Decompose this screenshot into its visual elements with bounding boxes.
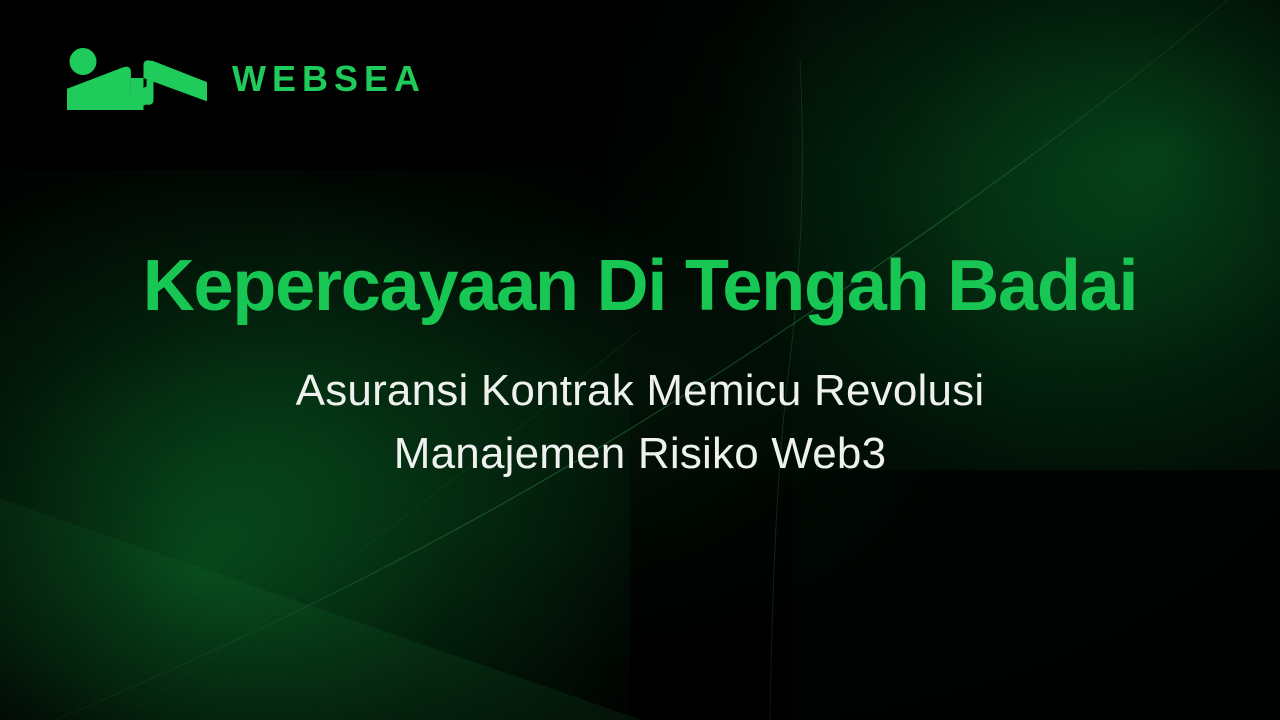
page-title: Kepercayaan Di Tengah Badai: [0, 248, 1280, 324]
subtitle-line-2: Manajemen Risiko Web3: [190, 423, 1090, 485]
brand-logo[interactable]: WEBSEA: [64, 48, 426, 110]
title-slide: WEBSEA Kepercayaan Di Tengah Badai Asura…: [0, 0, 1280, 720]
websea-wave-mark-icon: [64, 48, 210, 110]
brand-wordmark: WEBSEA: [232, 61, 426, 97]
hero-content: Kepercayaan Di Tengah Badai Asuransi Kon…: [0, 248, 1280, 485]
subtitle-line-1: Asuransi Kontrak Memicu Revolusi: [190, 360, 1090, 422]
page-subtitle: Asuransi Kontrak Memicu Revolusi Manajem…: [190, 360, 1090, 485]
